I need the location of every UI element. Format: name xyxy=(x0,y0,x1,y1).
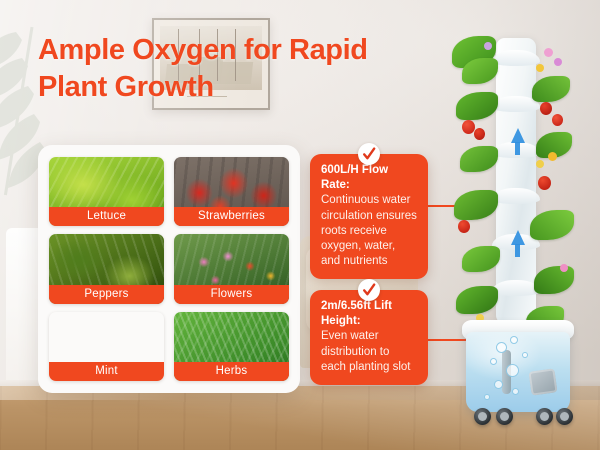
plant-card-label: Lettuce xyxy=(49,207,164,226)
tower-tier xyxy=(492,188,540,204)
tower-tier xyxy=(492,280,540,296)
swivel-caster-wheel xyxy=(496,408,513,425)
upward-water-flow-arrow xyxy=(515,244,520,257)
swivel-caster-wheel xyxy=(556,408,573,425)
feature-callout-lift-height: 2m/6.56ft Lift Height: Even water distri… xyxy=(310,290,428,385)
plant-card-label: Strawberries xyxy=(174,207,289,226)
plant-card-label: Herbs xyxy=(174,362,289,381)
plant-card-label: Mint xyxy=(49,362,164,381)
feature-body: Even water distribution to each planting… xyxy=(321,329,417,375)
plant-card-strawberries[interactable]: Strawberries xyxy=(174,157,289,226)
swivel-caster-wheel xyxy=(474,408,491,425)
check-icon xyxy=(358,143,380,165)
plant-card-herbs[interactable]: Herbs xyxy=(174,312,289,381)
plant-card-mint[interactable]: Mint xyxy=(49,312,164,381)
upward-water-flow-arrow xyxy=(511,128,525,143)
headline-line-1: Ample Oxygen for Rapid xyxy=(38,34,368,66)
feature-title: 600L/H Flow Rate: xyxy=(321,163,417,193)
feature-callout-flow-rate: 600L/H Flow Rate: Continuous water circu… xyxy=(310,154,428,279)
plant-card-flowers[interactable]: Flowers xyxy=(174,234,289,303)
plant-card-label: Peppers xyxy=(49,285,164,304)
swivel-caster-wheel xyxy=(536,408,553,425)
tower-tier xyxy=(492,50,540,66)
product-marketing-image: Ample Oxygen for Rapid Plant Growth Lett… xyxy=(0,0,600,450)
water-reservoir-tank xyxy=(466,332,570,412)
feature-title: 2m/6.56ft Lift Height: xyxy=(321,299,417,329)
page-title: Ample Oxygen for Rapid Plant Growth xyxy=(38,32,438,105)
water-pump-icon xyxy=(528,368,557,395)
upward-water-flow-arrow xyxy=(511,230,525,245)
upward-water-flow-arrow xyxy=(515,142,520,155)
plant-card-label: Flowers xyxy=(174,285,289,304)
feature-body: Continuous water circulation ensures roo… xyxy=(321,193,417,269)
plant-compatibility-panel: Lettuce Strawberries Peppers Flowers Min… xyxy=(38,145,300,393)
headline-line-2: Plant Growth xyxy=(38,69,438,106)
plant-grid: Lettuce Strawberries Peppers Flowers Min… xyxy=(49,157,289,381)
hydroponic-growing-tower xyxy=(440,14,600,434)
check-icon xyxy=(358,279,380,301)
plant-card-peppers[interactable]: Peppers xyxy=(49,234,164,303)
plant-card-lettuce[interactable]: Lettuce xyxy=(49,157,164,226)
